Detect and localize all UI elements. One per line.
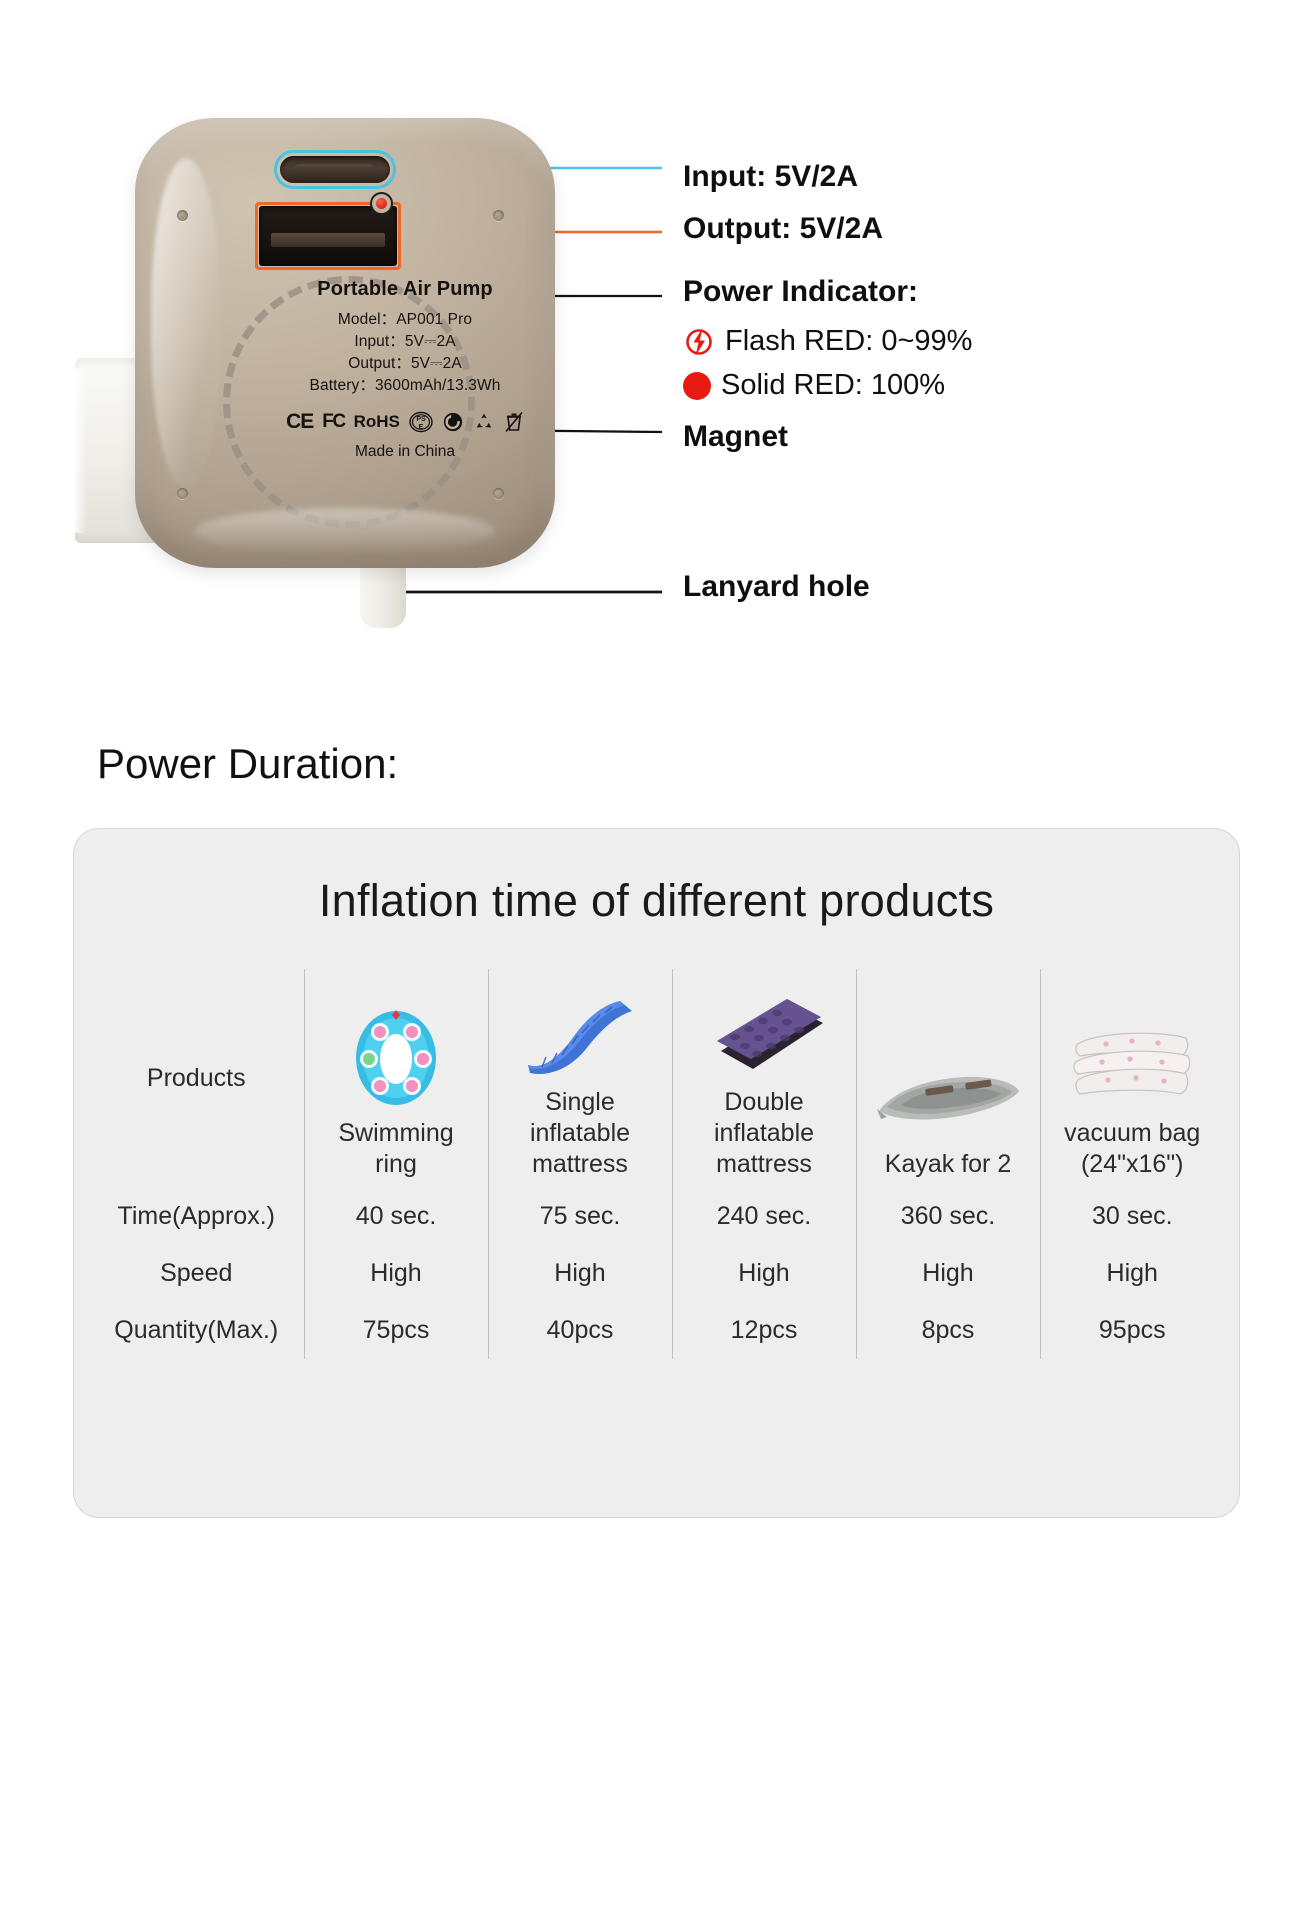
screw-icon: [177, 210, 188, 221]
callout-lanyard-hole: Lanyard hole: [683, 570, 870, 604]
speed-value-kayak: High: [856, 1245, 1040, 1302]
row-header-time: Time(Approx.): [89, 1188, 304, 1245]
row-header-speed: Speed: [89, 1245, 304, 1302]
product-name-double-mattress: Double inflatable mattress: [673, 1087, 856, 1180]
product-cell-kayak: Kayak for 2: [856, 969, 1040, 1188]
weee-crossed-bin-icon: [504, 410, 524, 434]
solid-red-dot-icon: [683, 372, 711, 400]
power-indicator-led-dot: [376, 198, 387, 209]
svg-text:E: E: [419, 424, 424, 431]
label-specs: Model：AP001 Pro Input：5V⎓2A Output：5V⎓2A…: [195, 309, 615, 397]
certification-marks-row: CE FC RoHS PS E: [195, 410, 615, 434]
recycle-triangle-icon: [473, 411, 495, 433]
product-name-swimming-ring: Swimming ring: [305, 1118, 488, 1180]
product-name-vacuum-bag: vacuum bag (24"x16"): [1041, 1118, 1225, 1180]
inflation-time-title: Inflation time of different products: [74, 875, 1239, 927]
screw-icon: [177, 488, 188, 499]
label-spec-input: Input：5V⎓2A: [195, 331, 615, 353]
callout-output: Output: 5V/2A: [683, 212, 883, 246]
label-spec-battery: Battery：3600mAh/13.3Wh: [195, 375, 615, 397]
svg-text:PS: PS: [416, 416, 426, 423]
indicator-flash-row: Flash RED: 0~99%: [683, 325, 972, 358]
label-title: Portable Air Pump: [195, 278, 615, 301]
pump-diagram-section: Portable Air Pump Model：AP001 Pro Input：…: [0, 0, 1301, 720]
flash-lightning-icon: [683, 326, 715, 358]
indicator-flash-label: Flash RED: 0~99%: [725, 325, 972, 358]
quantity-value-kayak: 8pcs: [856, 1302, 1040, 1359]
callout-text-group: Input: 5V/2A Output: 5V/2A Power Indicat…: [683, 0, 1293, 720]
product-name-kayak: Kayak for 2: [857, 1149, 1040, 1180]
vacuum-bag-image: [1041, 1000, 1225, 1108]
product-cell-double-mattress: Double inflatable mattress: [672, 969, 856, 1188]
inflation-time-card: Inflation time of different products Pro…: [73, 828, 1240, 1518]
table-row-products: Products: [89, 969, 1224, 1188]
indicator-solid-label: Solid RED: 100%: [721, 369, 945, 402]
air-pump-illustration: Portable Air Pump Model：AP001 Pro Input：…: [75, 118, 635, 638]
label-spec-model: Model：AP001 Pro: [195, 309, 615, 331]
screw-icon: [493, 210, 504, 221]
indicator-solid-row: Solid RED: 100%: [683, 369, 945, 402]
ce-mark-icon: CE: [286, 410, 313, 434]
inflation-time-table: Products: [89, 969, 1224, 1359]
power-duration-section: Power Duration: Inflation time of differ…: [0, 720, 1301, 1920]
callout-input: Input: 5V/2A: [683, 160, 858, 194]
pse-mark-icon: PS E: [409, 410, 433, 434]
callout-power-indicator: Power Indicator:: [683, 275, 918, 309]
callout-magnet: Magnet: [683, 420, 788, 454]
speed-value-single-mattress: High: [488, 1245, 672, 1302]
double-inflatable-mattress-image: [673, 969, 856, 1077]
row-header-quantity: Quantity(Max.): [89, 1302, 304, 1359]
time-value-single-mattress: 75 sec.: [488, 1188, 672, 1245]
product-cell-single-mattress: Single inflatable mattress: [488, 969, 672, 1188]
power-duration-heading: Power Duration:: [97, 740, 398, 788]
pump-printed-label: Portable Air Pump Model：AP001 Pro Input：…: [195, 278, 615, 461]
time-value-double-mattress: 240 sec.: [672, 1188, 856, 1245]
quantity-value-single-mattress: 40pcs: [488, 1302, 672, 1359]
table-row-speed: Speed High High High High High: [89, 1245, 1224, 1302]
quantity-value-vacuum-bag: 95pcs: [1040, 1302, 1224, 1359]
speed-value-vacuum-bag: High: [1040, 1245, 1224, 1302]
time-value-swimming-ring: 40 sec.: [304, 1188, 488, 1245]
speed-value-swimming-ring: High: [304, 1245, 488, 1302]
label-spec-output: Output：5V⎓2A: [195, 353, 615, 375]
product-cell-swimming-ring: Swimming ring: [304, 969, 488, 1188]
speed-value-double-mattress: High: [672, 1245, 856, 1302]
recycle-arrow-icon: [442, 411, 464, 433]
kayak-image: [857, 1031, 1040, 1139]
made-in-text: Made in China: [195, 443, 615, 461]
single-inflatable-mattress-image: [489, 969, 672, 1077]
rohs-mark-icon: RoHS: [354, 412, 400, 432]
fcc-mark-icon: FC: [322, 411, 344, 433]
product-name-single-mattress: Single inflatable mattress: [489, 1087, 672, 1180]
screw-icon: [493, 488, 504, 499]
table-row-quantity: Quantity(Max.) 75pcs 40pcs 12pcs 8pcs 95…: [89, 1302, 1224, 1359]
table-row-time: Time(Approx.) 40 sec. 75 sec. 240 sec. 3…: [89, 1188, 1224, 1245]
swimming-ring-image: [305, 1000, 488, 1108]
time-value-vacuum-bag: 30 sec.: [1040, 1188, 1224, 1245]
quantity-value-double-mattress: 12pcs: [672, 1302, 856, 1359]
usb-c-highlight-outline: [274, 150, 396, 189]
pump-body: Portable Air Pump Model：AP001 Pro Input：…: [135, 118, 555, 568]
row-header-products: Products: [89, 969, 304, 1188]
product-cell-vacuum-bag: vacuum bag (24"x16"): [1040, 969, 1224, 1188]
time-value-kayak: 360 sec.: [856, 1188, 1040, 1245]
quantity-value-swimming-ring: 75pcs: [304, 1302, 488, 1359]
